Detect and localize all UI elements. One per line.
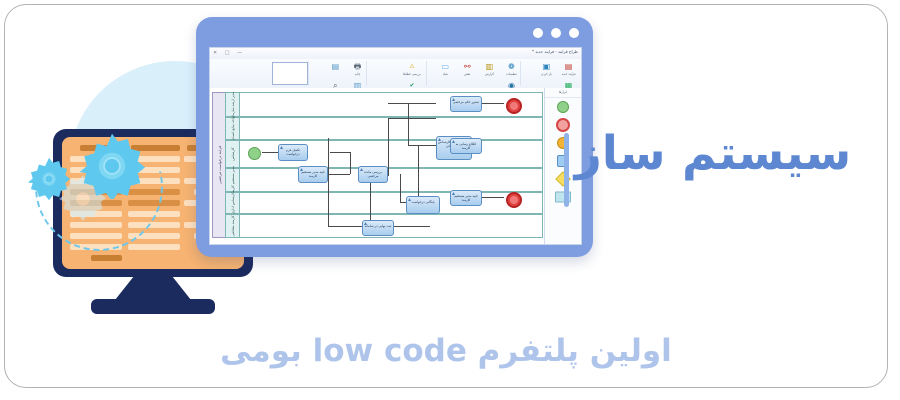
task-node-2[interactable]: بررسی مانده مرخصی bbox=[358, 166, 388, 183]
report-icon[interactable]: ▥گزارش bbox=[482, 61, 497, 76]
flow-19 bbox=[400, 174, 401, 202]
ribbon-group-file: ▤فرایند جدید ▣باز کردن ▦ذخیره bbox=[525, 61, 577, 86]
lane-label-5: کارمند متقاضی bbox=[226, 215, 240, 237]
start-event[interactable] bbox=[248, 147, 261, 160]
lane-label-4: کارشناس اداری bbox=[226, 193, 240, 213]
settings-icon[interactable]: ❁تنظیمات bbox=[504, 61, 519, 76]
process-canvas[interactable]: فرایند درخواست مرخصی مدیر ارشد سازمان وا… bbox=[210, 88, 545, 244]
tagline-before: اولین پلتفرم bbox=[478, 333, 672, 369]
pool-label: فرایند درخواست مرخصی bbox=[218, 146, 222, 184]
end-event-0[interactable] bbox=[506, 98, 522, 114]
lane-label-2: کارشناس bbox=[226, 141, 240, 167]
lane-label-0: مدیر ارشد سازمان bbox=[226, 93, 240, 116]
task-node-8[interactable]: تایید مدیر مستقیم کارمند bbox=[450, 190, 482, 206]
start-event-tool[interactable] bbox=[545, 98, 581, 116]
grid-icon[interactable]: ▤ bbox=[328, 61, 343, 72]
flow-17 bbox=[328, 138, 329, 226]
flow-10 bbox=[408, 145, 436, 146]
flow-2 bbox=[330, 152, 350, 153]
task-node-0[interactable]: تکمیل فرم درخواست bbox=[278, 144, 308, 161]
task-node-6[interactable]: صدور حکم مرخصی bbox=[450, 96, 482, 112]
new-process-button[interactable]: ▤فرایند جدید bbox=[561, 61, 576, 76]
app-title-text: طراح فرایند - فرایند جدید * bbox=[532, 49, 578, 54]
ribbon-group-validate: ⚠بررسی خطاها ✔اعتبارسنجی bbox=[368, 61, 427, 86]
flow-13 bbox=[482, 103, 504, 104]
ribbon-group-preview bbox=[262, 61, 309, 86]
print-icon[interactable]: 🖶چاپ bbox=[350, 61, 365, 76]
task-node-4[interactable]: ثبت نهایی در سامانه bbox=[362, 220, 394, 236]
lane-0: مدیر ارشد سازمان bbox=[225, 92, 543, 117]
process-designer-app: طراح فرایند - فرایند جدید * — □ ✕ ▤فراین… bbox=[209, 47, 582, 245]
warning-icon[interactable]: ⚠بررسی خطاها bbox=[399, 61, 425, 76]
browser-dot-3[interactable] bbox=[533, 28, 543, 38]
flow-6 bbox=[388, 118, 389, 176]
lane-label-1: واحد منابع انسانی bbox=[226, 118, 240, 139]
palette-header: ابزارها bbox=[545, 88, 581, 98]
flow-3 bbox=[350, 152, 351, 174]
ribbon-group-entities: ❁تنظیمات ▥گزارش ⚯نقش ▭فیلد ◉فرم bbox=[428, 61, 521, 86]
flow-11 bbox=[418, 145, 419, 197]
ribbon-group-zoom: 🖶چاپ ▤ ▥ ⌕ bbox=[310, 61, 367, 86]
task-node-1[interactable]: تایید مدیر مستقیم کارمند bbox=[298, 166, 328, 183]
lane-1: واحد منابع انسانی bbox=[225, 117, 543, 140]
tagline-en: low code bbox=[313, 333, 467, 369]
page-title: سیستم ساز bbox=[555, 127, 871, 181]
subprocess-tool[interactable] bbox=[545, 188, 581, 206]
browser-window: طراح فرایند - فرایند جدید * — □ ✕ ▤فراین… bbox=[196, 17, 593, 257]
flow-8 bbox=[388, 103, 436, 104]
flow-14 bbox=[482, 197, 504, 198]
browser-dot-1[interactable] bbox=[569, 28, 579, 38]
tagline-after: بومی bbox=[220, 333, 302, 369]
gear-icon-large bbox=[79, 133, 145, 199]
form-icon[interactable]: ▭فیلد bbox=[438, 61, 453, 76]
lane-4: کارشناس اداری bbox=[225, 192, 543, 214]
monitor-stand-base bbox=[91, 299, 215, 314]
browser-dot-2[interactable] bbox=[551, 28, 561, 38]
open-file-button[interactable]: ▣باز کردن bbox=[539, 61, 554, 76]
end-event-1[interactable] bbox=[506, 192, 522, 208]
lane-2: کارشناس bbox=[225, 140, 543, 168]
flow-9 bbox=[408, 103, 409, 145]
gear-icon-small bbox=[27, 157, 71, 201]
flow-7 bbox=[388, 118, 436, 119]
flow-1 bbox=[262, 152, 278, 153]
tagline: اولین پلتفرم low code بومی bbox=[5, 333, 887, 369]
task-node-7[interactable]: اطلاع رسانی به کارمند bbox=[450, 138, 482, 154]
browser-window-controls[interactable] bbox=[533, 28, 579, 38]
task-node-3[interactable]: بایگانی درخواست bbox=[406, 196, 440, 214]
lane-label-3: مدیر مستقیم کارمند bbox=[226, 169, 240, 191]
process-preview-icon[interactable] bbox=[272, 62, 308, 85]
flow-18 bbox=[328, 226, 362, 227]
promo-card: طراح فرایند - فرایند جدید * — □ ✕ ▤فراین… bbox=[4, 4, 888, 388]
app-ribbon-toolbar: ▤فرایند جدید ▣باز کردن ▦ذخیره ❁تنظیمات ▥… bbox=[210, 59, 581, 89]
org-icon[interactable]: ⚯نقش bbox=[460, 61, 475, 76]
app-window-buttons[interactable]: — □ ✕ bbox=[213, 50, 245, 56]
